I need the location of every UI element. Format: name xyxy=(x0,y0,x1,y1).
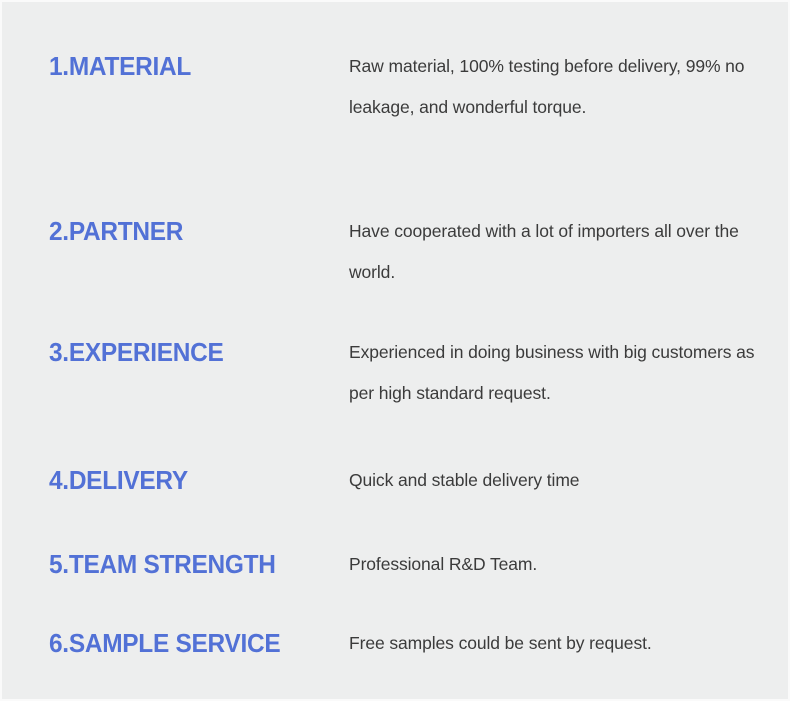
feature-title: 4.DELIVERY xyxy=(2,465,328,495)
feature-row: 4.DELIVERY Quick and stable delivery tim… xyxy=(2,460,790,501)
feature-description: Professional R&D Team. xyxy=(349,544,759,585)
feature-description: Raw material, 100% testing before delive… xyxy=(349,46,759,128)
feature-row: 1.MATERIAL Raw material, 100% testing be… xyxy=(2,46,790,128)
feature-list: 1.MATERIAL Raw material, 100% testing be… xyxy=(2,2,790,701)
feature-row: 6.SAMPLE SERVICE Free samples could be s… xyxy=(2,623,790,664)
feature-description: Free samples could be sent by request. xyxy=(349,623,759,664)
feature-description: Quick and stable delivery time xyxy=(349,460,759,501)
feature-list-page: 1.MATERIAL Raw material, 100% testing be… xyxy=(0,0,790,701)
feature-row: 5.TEAM STRENGTH Professional R&D Team. xyxy=(2,544,790,585)
feature-description: Have cooperated with a lot of importers … xyxy=(349,211,759,293)
feature-row: 3.EXPERIENCE Experienced in doing busine… xyxy=(2,332,790,414)
feature-description: Experienced in doing business with big c… xyxy=(349,332,759,414)
feature-title: 1.MATERIAL xyxy=(2,51,328,81)
feature-title: 2.PARTNER xyxy=(2,216,328,246)
feature-title: 5.TEAM STRENGTH xyxy=(2,549,328,579)
feature-title: 6.SAMPLE SERVICE xyxy=(2,628,328,658)
feature-title: 3.EXPERIENCE xyxy=(2,337,328,367)
feature-row: 2.PARTNER Have cooperated with a lot of … xyxy=(2,211,790,293)
